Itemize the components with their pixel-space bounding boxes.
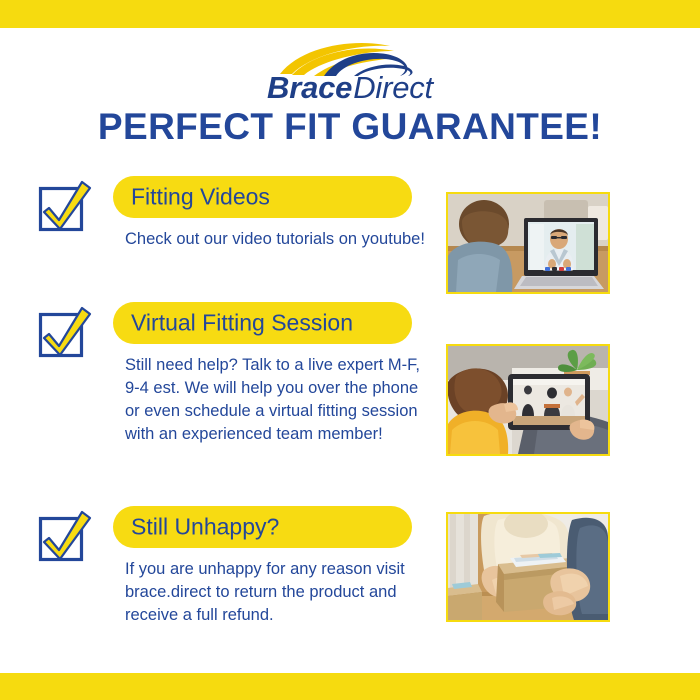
- pill-label: Still Unhappy?: [131, 516, 279, 539]
- pill-label: Fitting Videos: [131, 186, 270, 209]
- top-yellow-band: [0, 0, 700, 28]
- pill-still-unhappy[interactable]: Still Unhappy?: [113, 506, 412, 548]
- photo-virtual-fitting-session: [446, 344, 610, 456]
- checkmark-icon: [38, 180, 92, 232]
- body-text-virtual-fitting-session: Still need help? Talk to a live expert M…: [125, 354, 425, 446]
- brand-wordmark: BraceDirect: [0, 72, 700, 103]
- checkmark-icon: [38, 306, 92, 358]
- bottom-yellow-band: [0, 673, 700, 700]
- body-text-fitting-videos: Check out our video tutorials on youtube…: [125, 228, 425, 251]
- photo-fitting-videos: [446, 192, 610, 294]
- brand-logo: BraceDirect: [0, 40, 700, 103]
- body-text-still-unhappy: If you are unhappy for any reason visit …: [125, 558, 425, 627]
- page-title: PERFECT FIT GUARANTEE!: [0, 108, 700, 145]
- brace-direct-swoosh-icon: [262, 40, 438, 76]
- pill-label: Virtual Fitting Session: [131, 312, 353, 335]
- perfect-fit-guarantee-graphic: BraceDirect PERFECT FIT GUARANTEE! Fitti…: [0, 0, 700, 700]
- pill-fitting-videos[interactable]: Fitting Videos: [113, 176, 412, 218]
- pill-virtual-fitting-session[interactable]: Virtual Fitting Session: [113, 302, 412, 344]
- checkmark-icon: [38, 510, 92, 562]
- photo-still-unhappy: [446, 512, 610, 622]
